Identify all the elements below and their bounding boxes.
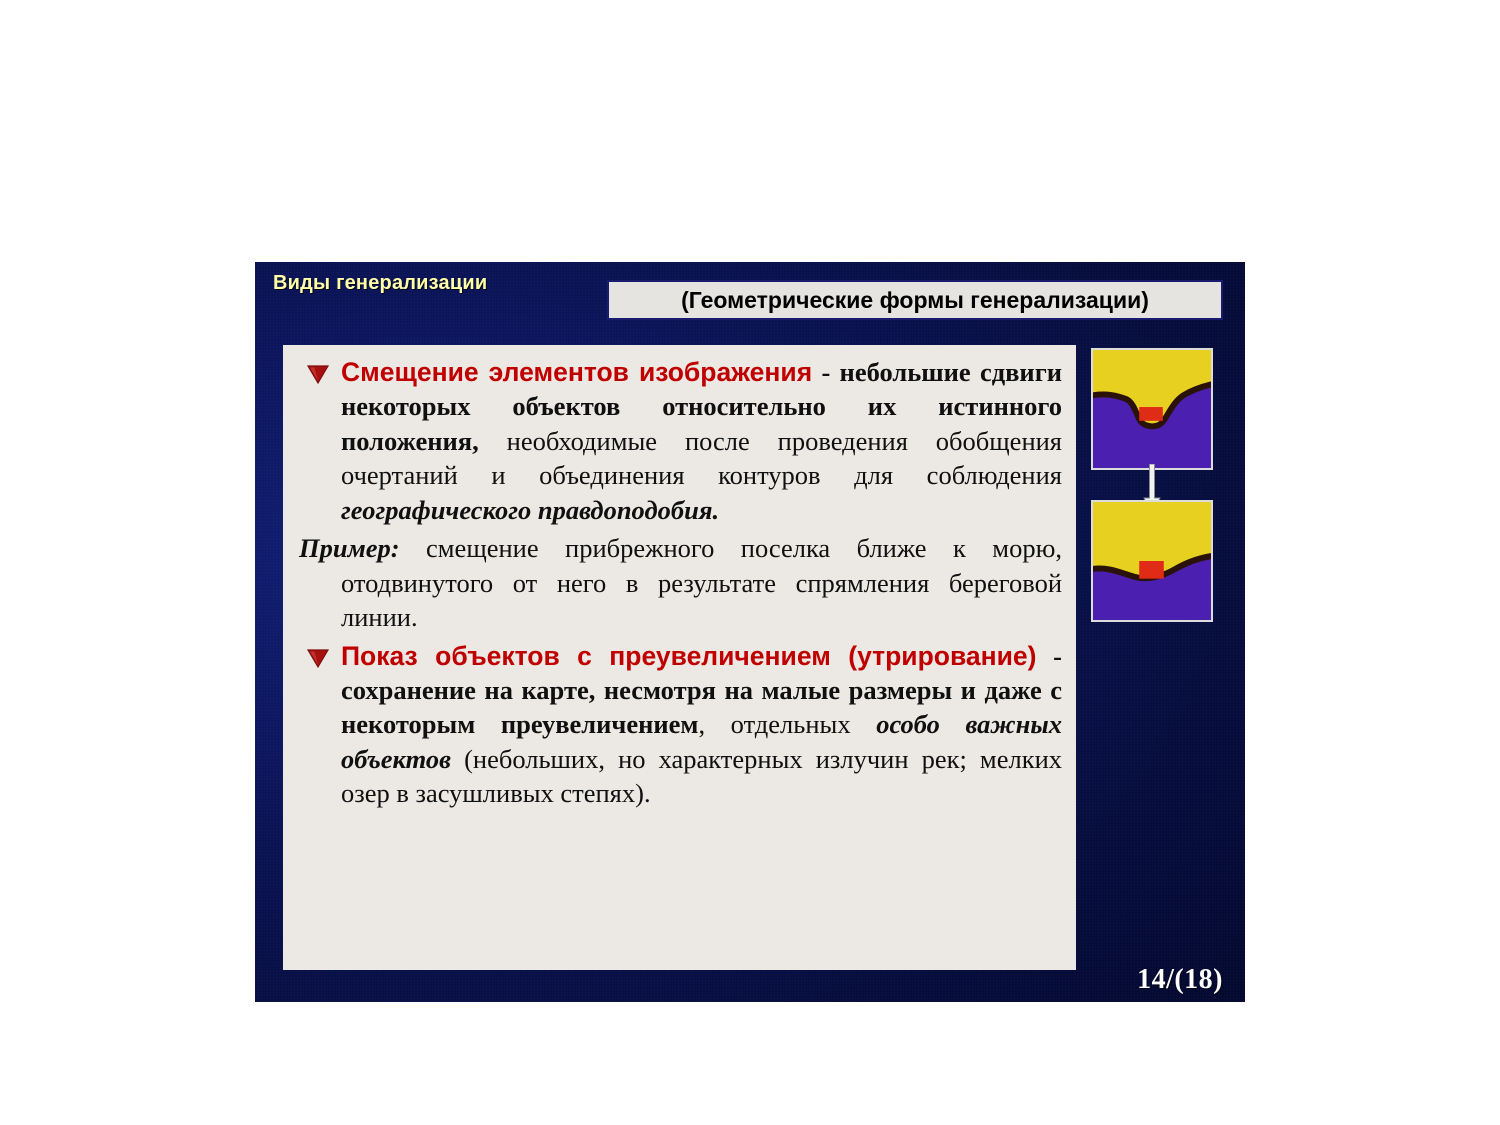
slide-title-box: (Геометрические формы генерализации) (607, 280, 1223, 320)
figure-after-generalization (1091, 500, 1213, 622)
run-exaggeration-title: Показ объектов с преувеличением (утриров… (341, 641, 1037, 671)
run-displacement-emphasis: географического правдоподобия. (341, 495, 719, 525)
presentation-slide: Виды генерализации (Геометрические формы… (255, 262, 1245, 1002)
slide-kicker-label: Виды генерализации (273, 272, 487, 295)
figure-before-generalization (1091, 348, 1213, 470)
bullet-paragraph-displacement: Смещение элементов изображения - небольш… (299, 355, 1062, 527)
paragraph-example: Пример: смещение прибрежного поселка бли… (299, 531, 1062, 634)
illustration-group (1091, 348, 1219, 623)
page-title: (Геометрические формы генерализации) (681, 287, 1149, 314)
run-example-label: Пример: (299, 533, 400, 563)
bullet-paragraph-exaggeration: Показ объектов с преувеличением (утриров… (299, 639, 1062, 811)
page-number: 14/(18) (1137, 964, 1223, 996)
chevron-bullet-icon (305, 645, 331, 671)
run-example-text: смещение прибрежного поселка ближе к мор… (341, 533, 1062, 632)
run-displacement-title: Смещение элементов изображения (341, 357, 812, 387)
run-exaggeration-plain-a: , отдельных (698, 709, 876, 739)
chevron-bullet-icon (305, 361, 331, 387)
content-panel: Смещение элементов изображения - небольш… (283, 345, 1076, 970)
